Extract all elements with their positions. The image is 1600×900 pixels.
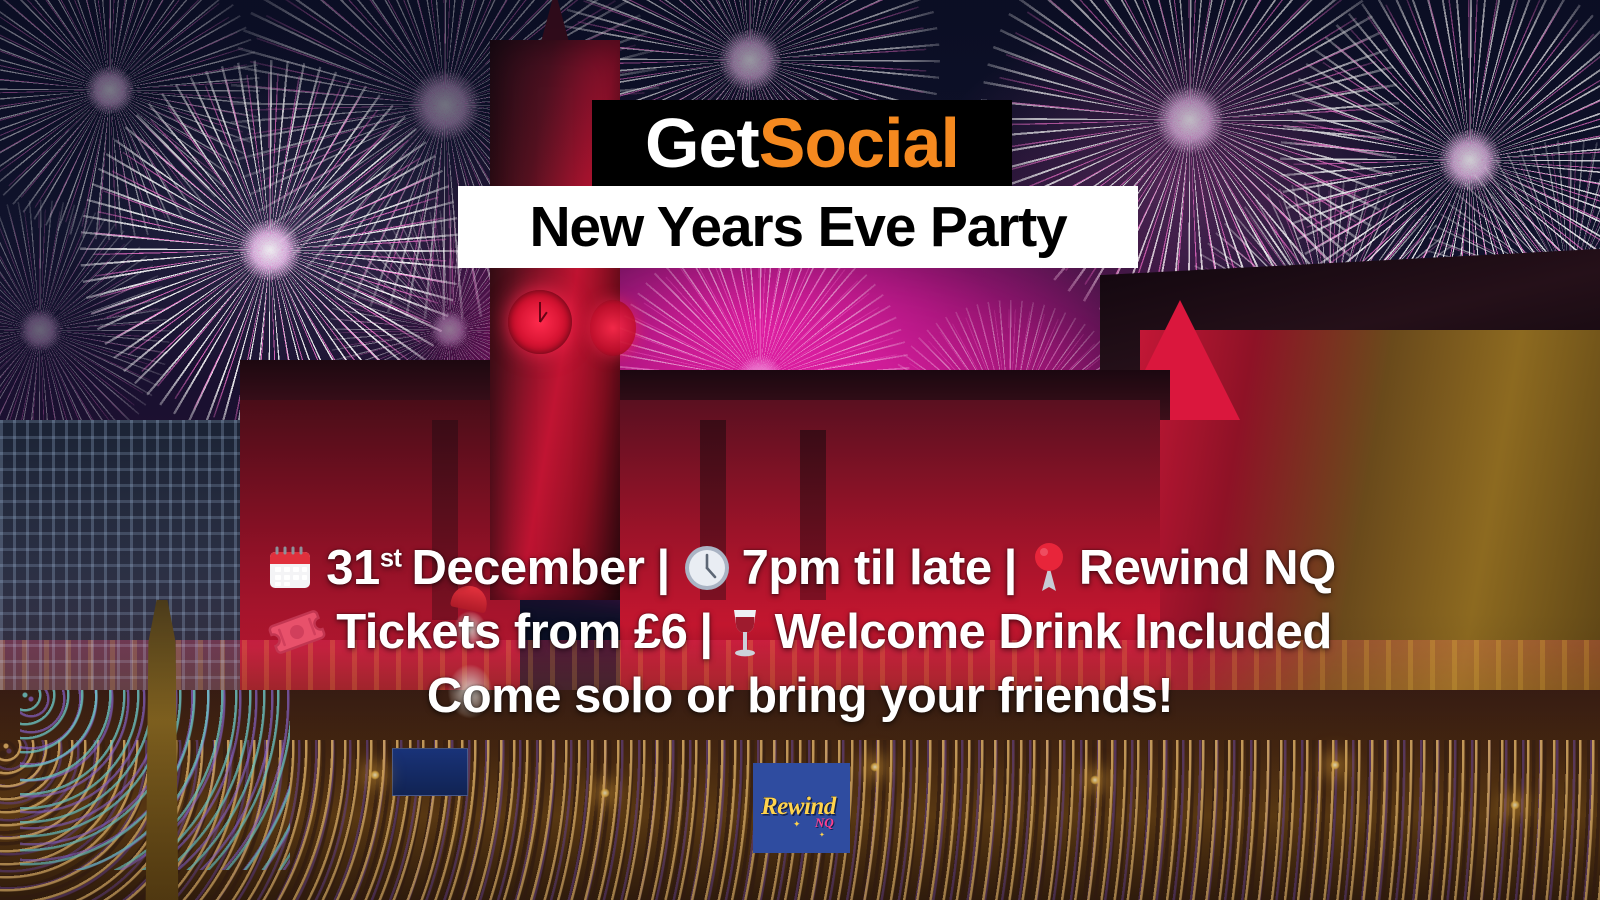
rewind-logo-suffix: NQ <box>815 815 834 831</box>
event-time: 7pm til late <box>742 540 992 596</box>
brand-banner: GetSocial <box>592 100 1012 186</box>
wine-glass-icon <box>725 604 765 660</box>
event-subtitle: New Years Eve Party <box>529 199 1066 256</box>
event-date: 31st <box>326 540 401 596</box>
event-detail-line-date-time-venue: 31st December | 7pm til late | Rewind NQ <box>0 540 1600 596</box>
clock-icon <box>682 543 732 593</box>
event-venue: Rewind NQ <box>1079 540 1336 596</box>
location-pin-icon <box>1029 541 1069 595</box>
sparkle-icon: ✦ <box>793 819 801 830</box>
event-detail-line-price-offer: Tickets from £6 | Welcome Drink Included <box>0 604 1600 660</box>
rewind-nq-logo[interactable]: Rewind NQ ✦ ✦ <box>753 763 850 853</box>
ticket-price: Tickets from £6 <box>336 604 687 660</box>
brand-title: GetSocial <box>645 108 959 178</box>
event-month: December <box>411 540 644 596</box>
invitation-text: Come solo or bring your friends! <box>427 668 1173 724</box>
event-detail-line-invitation: Come solo or bring your friends! <box>0 668 1600 724</box>
welcome-drink-offer: Welcome Drink Included <box>775 604 1332 660</box>
calendar-icon <box>264 542 316 594</box>
brand-title-get: Get <box>645 104 759 182</box>
detail-separator: | <box>697 604 714 660</box>
subtitle-banner: New Years Eve Party <box>458 186 1138 268</box>
sparkle-icon: ✦ <box>819 831 825 839</box>
ticket-icon <box>268 606 326 658</box>
detail-separator: | <box>1002 540 1019 596</box>
brand-title-social: Social <box>759 104 959 182</box>
detail-separator: | <box>654 540 671 596</box>
nye-party-poster: GetSocial New Years Eve Party <box>0 0 1600 900</box>
